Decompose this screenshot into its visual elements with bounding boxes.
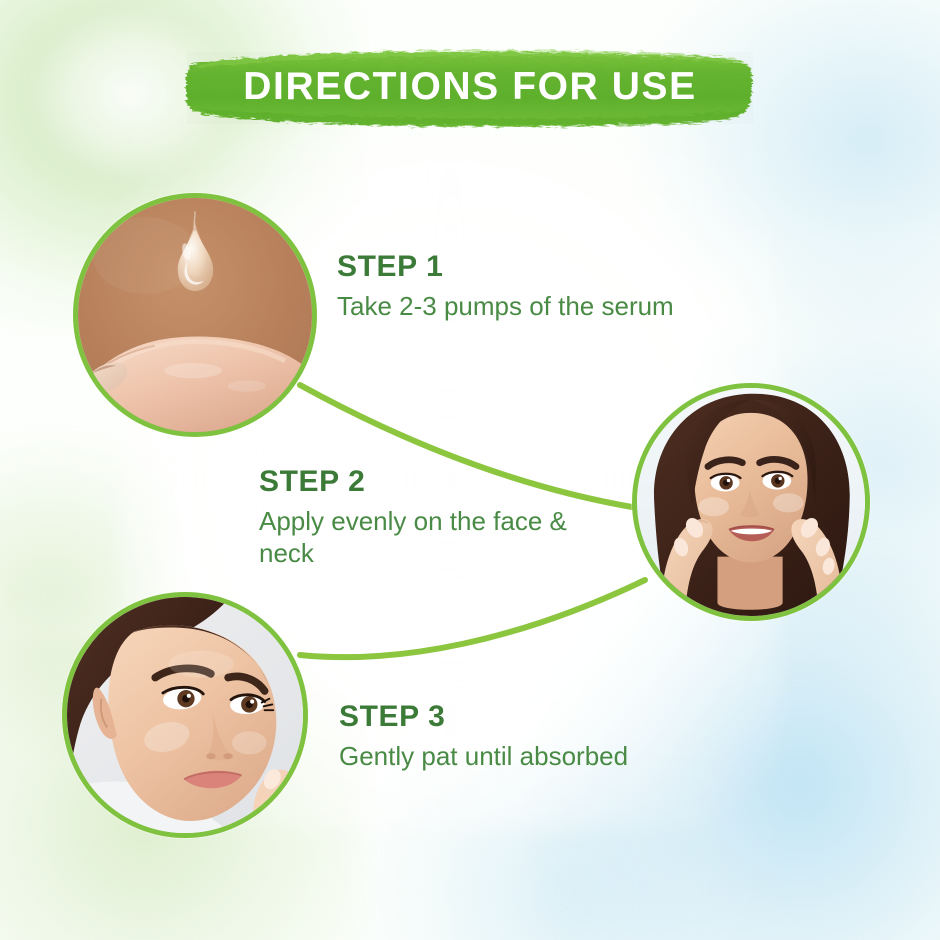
step-2-title: STEP 2 — [259, 467, 619, 497]
woman-patting-face-closeup-image — [67, 597, 303, 833]
step-1-text-block: STEP 1 Take 2-3 pumps of the serum — [337, 252, 767, 323]
step-3-text-block: STEP 3 Gently pat until absorbed — [339, 702, 739, 773]
directions-for-use-infographic: DIRECTIONS FOR USE — [0, 0, 940, 940]
step-3-photo — [62, 592, 308, 838]
step-1-description: Take 2-3 pumps of the serum — [337, 291, 767, 323]
woman-applying-serum-to-face-image — [637, 388, 865, 616]
step-2-photo — [632, 383, 870, 621]
connector-step2-to-step3 — [300, 580, 645, 657]
step-2-description: Apply evenly on the face & neck — [259, 506, 619, 569]
serum-drop-on-fingertip-image — [78, 198, 312, 432]
step-3-title: STEP 3 — [339, 702, 739, 732]
step-1-title: STEP 1 — [337, 252, 767, 282]
title-banner: DIRECTIONS FOR USE — [183, 44, 757, 130]
step-1-photo — [73, 193, 317, 437]
step-3-description: Gently pat until absorbed — [339, 741, 739, 773]
page-title: DIRECTIONS FOR USE — [183, 44, 757, 130]
step-2-text-block: STEP 2 Apply evenly on the face & neck — [259, 467, 619, 569]
watercolor-wash-blue-bottom — [360, 750, 780, 940]
